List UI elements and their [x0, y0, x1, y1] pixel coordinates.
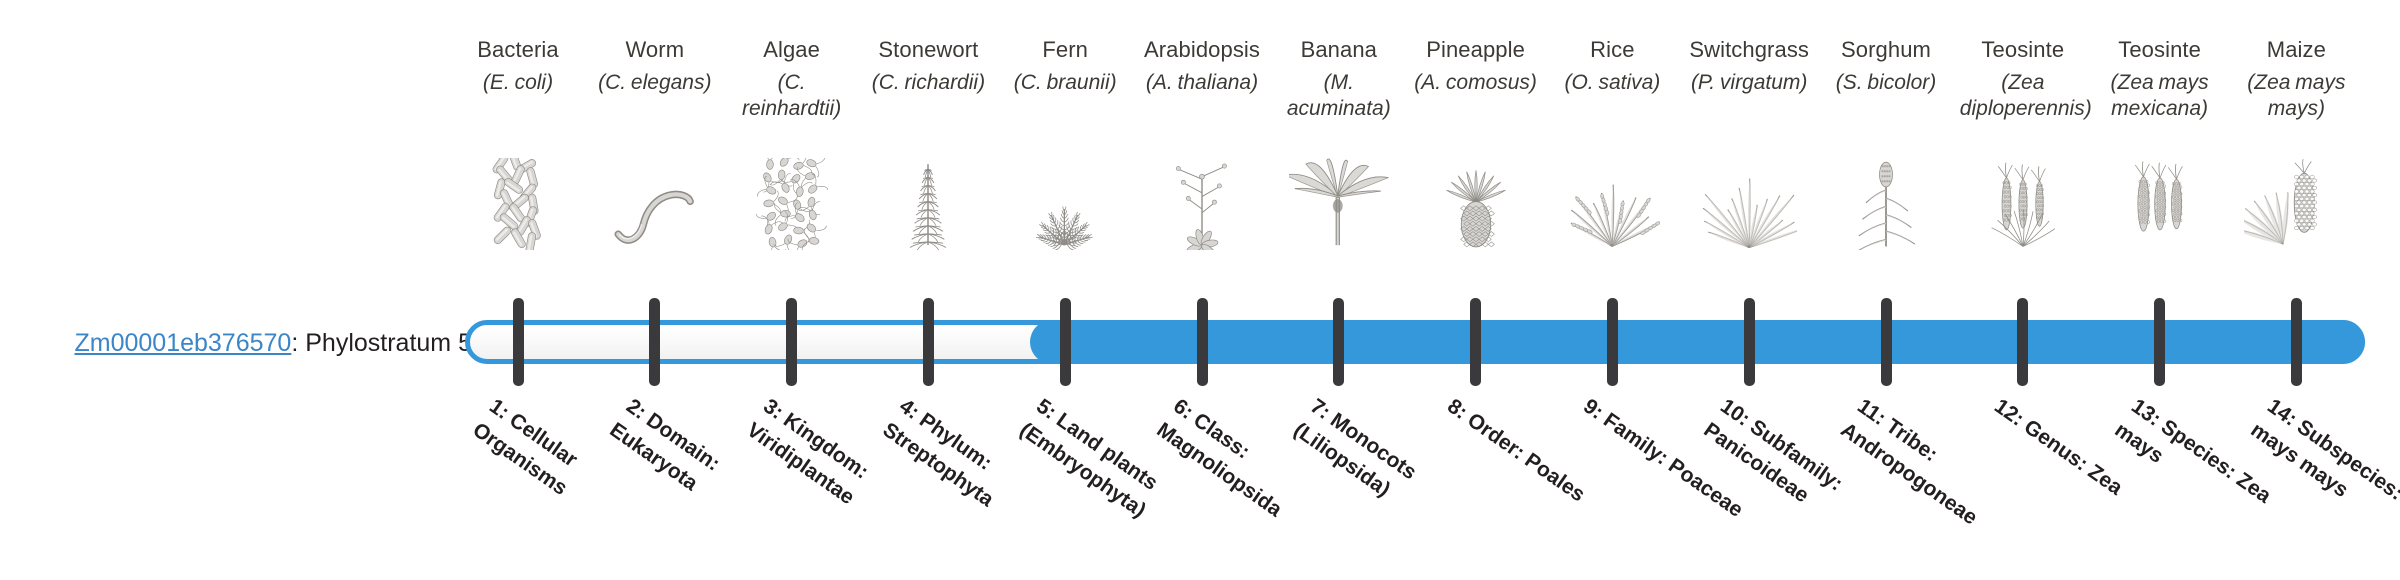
- species-common-name: Arabidopsis: [1139, 36, 1265, 64]
- species-scientific-name: (E. coli): [455, 70, 581, 96]
- species-column-5: Fern(C. braunii): [1002, 36, 1128, 96]
- species-column-9: Rice(O. sativa): [1549, 36, 1675, 96]
- phylostratum-name: Genus: Zea: [2020, 415, 2127, 499]
- species-scientific-name: (C. braunii): [1002, 70, 1128, 96]
- species-column-1: Bacteria(E. coli): [455, 36, 581, 96]
- species-scientific-name: (C. elegans): [592, 70, 718, 96]
- species-scientific-name: (M. acuminata): [1276, 70, 1402, 122]
- species-common-name: Switchgrass: [1686, 36, 1812, 64]
- species-scientific-name: (A. comosus): [1413, 70, 1539, 96]
- species-common-name: Rice: [1549, 36, 1675, 64]
- species-column-3: Algae(C. reinhardtii): [729, 36, 855, 122]
- species-scientific-name: (C. richardii): [865, 70, 991, 96]
- species-common-name: Teosinte: [1960, 36, 2086, 64]
- gene-label-separator: :: [291, 329, 305, 357]
- phylostratum-number: 12:: [1990, 394, 2028, 430]
- phylostratum-tick-11[interactable]: [1881, 298, 1892, 386]
- phylostratum-tick-3[interactable]: [786, 298, 797, 386]
- species-scientific-name: (C. reinhardtii): [729, 70, 855, 122]
- phylostratum-tick-14[interactable]: [2291, 298, 2302, 386]
- species-common-name: Pineapple: [1413, 36, 1539, 64]
- pineapple-icon: [1413, 158, 1539, 250]
- phylostratum-tick-4[interactable]: [923, 298, 934, 386]
- species-scientific-name: (Zea mays mays): [2233, 70, 2359, 122]
- species-scientific-name: (Zea mays mexicana): [2097, 70, 2223, 122]
- species-column-2: Worm(C. elegans): [592, 36, 718, 96]
- phylostratum-tick-6[interactable]: [1197, 298, 1208, 386]
- species-scientific-name: (A. thaliana): [1139, 70, 1265, 96]
- gene-accession-link[interactable]: Zm00001eb376570: [74, 329, 291, 357]
- species-common-name: Worm: [592, 36, 718, 64]
- species-column-8: Pineapple(A. comosus): [1413, 36, 1539, 96]
- stonewort-icon: [865, 158, 991, 250]
- arabidopsis-icon: [1139, 158, 1265, 250]
- fern-frond-icon: [1002, 158, 1128, 250]
- species-common-name: Bacteria: [455, 36, 581, 64]
- species-common-name: Algae: [729, 36, 855, 64]
- species-common-name: Teosinte: [2097, 36, 2223, 64]
- teosinte-ears-icon: [1960, 158, 2086, 250]
- nematode-worm-icon: [592, 158, 718, 250]
- algae-cells-icon: [729, 158, 855, 250]
- phylostratum-tick-5[interactable]: [1060, 298, 1071, 386]
- species-column-7: Banana(M. acuminata): [1276, 36, 1402, 122]
- phylostratum-tick-13[interactable]: [2154, 298, 2165, 386]
- phylostratum-tick-12[interactable]: [2017, 298, 2028, 386]
- phylostratum-value-text: Phylostratum 5: [305, 329, 472, 357]
- species-scientific-name: (S. bicolor): [1823, 70, 1949, 96]
- phylostratum-tick-10[interactable]: [1744, 298, 1755, 386]
- phylostratum-tick-2[interactable]: [649, 298, 660, 386]
- species-common-name: Sorghum: [1823, 36, 1949, 64]
- phylostratum-name: Cellular Organisms: [468, 409, 581, 500]
- rice-plant-icon: [1549, 158, 1675, 250]
- phylostratum-number: 3:: [759, 394, 788, 424]
- species-common-name: Fern: [1002, 36, 1128, 64]
- species-common-name: Banana: [1276, 36, 1402, 64]
- sorghum-icon: [1823, 158, 1949, 250]
- teosinte-mexicana-icon: [2097, 158, 2223, 250]
- bacteria-rods-icon: [455, 158, 581, 250]
- phylostratum-tick-8[interactable]: [1470, 298, 1481, 386]
- species-column-10: Switchgrass(P. virgatum): [1686, 36, 1812, 96]
- gene-phylostratum-label: Zm00001eb376570: Phylostratum 5: [42, 331, 472, 356]
- phylostratum-tick-7[interactable]: [1333, 298, 1344, 386]
- species-column-13: Teosinte(Zea mays mexicana): [2097, 36, 2223, 122]
- banana-plant-icon: [1276, 158, 1402, 250]
- phylostratum-tick-9[interactable]: [1607, 298, 1618, 386]
- phylostratum-name: Order: Poales: [1463, 409, 1589, 507]
- species-scientific-name: (O. sativa): [1549, 70, 1675, 96]
- species-common-name: Maize: [2233, 36, 2359, 64]
- phylostratum-tick-1[interactable]: [513, 298, 524, 386]
- maize-ear-icon: [2233, 158, 2359, 250]
- phylostratum-progress-track[interactable]: [465, 320, 2365, 364]
- species-column-11: Sorghum(S. bicolor): [1823, 36, 1949, 96]
- phylostratum-timeline: Zm00001eb376570: Phylostratum 5 Bacteria…: [0, 0, 2400, 580]
- species-scientific-name: (P. virgatum): [1686, 70, 1812, 96]
- switchgrass-icon: [1686, 158, 1812, 250]
- species-common-name: Stonewort: [865, 36, 991, 64]
- phylostratum-number: 8:: [1443, 394, 1472, 424]
- species-column-4: Stonewort(C. richardii): [865, 36, 991, 96]
- species-column-14: Maize(Zea mays mays): [2233, 36, 2359, 122]
- species-column-12: Teosinte(Zea diploperennis): [1960, 36, 2086, 122]
- species-column-6: Arabidopsis(A. thaliana): [1139, 36, 1265, 96]
- species-scientific-name: (Zea diploperennis): [1960, 70, 2086, 122]
